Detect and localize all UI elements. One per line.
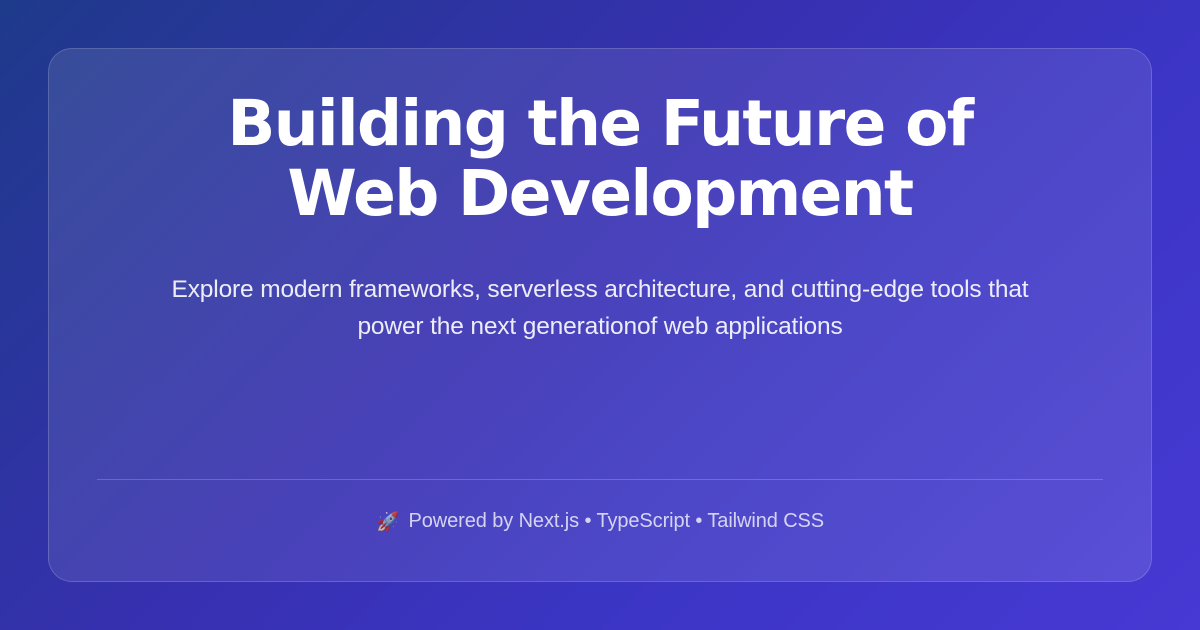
footer-divider [97, 479, 1103, 480]
page-title: Building the Future of Web Development [150, 89, 1050, 229]
hero-card: Building the Future of Web Development E… [48, 48, 1152, 582]
hero-content-block: Building the Future of Web Development E… [97, 89, 1103, 479]
rocket-icon: 🚀 [376, 513, 400, 532]
page-subtitle: Explore modern frameworks, serverless ar… [155, 271, 1045, 345]
footer-credits: 🚀 Powered by Next.js • TypeScript • Tail… [97, 510, 1103, 547]
og-image-canvas: Building the Future of Web Development E… [0, 0, 1200, 630]
footer-credits-label: Powered by Next.js • TypeScript • Tailwi… [409, 510, 825, 533]
